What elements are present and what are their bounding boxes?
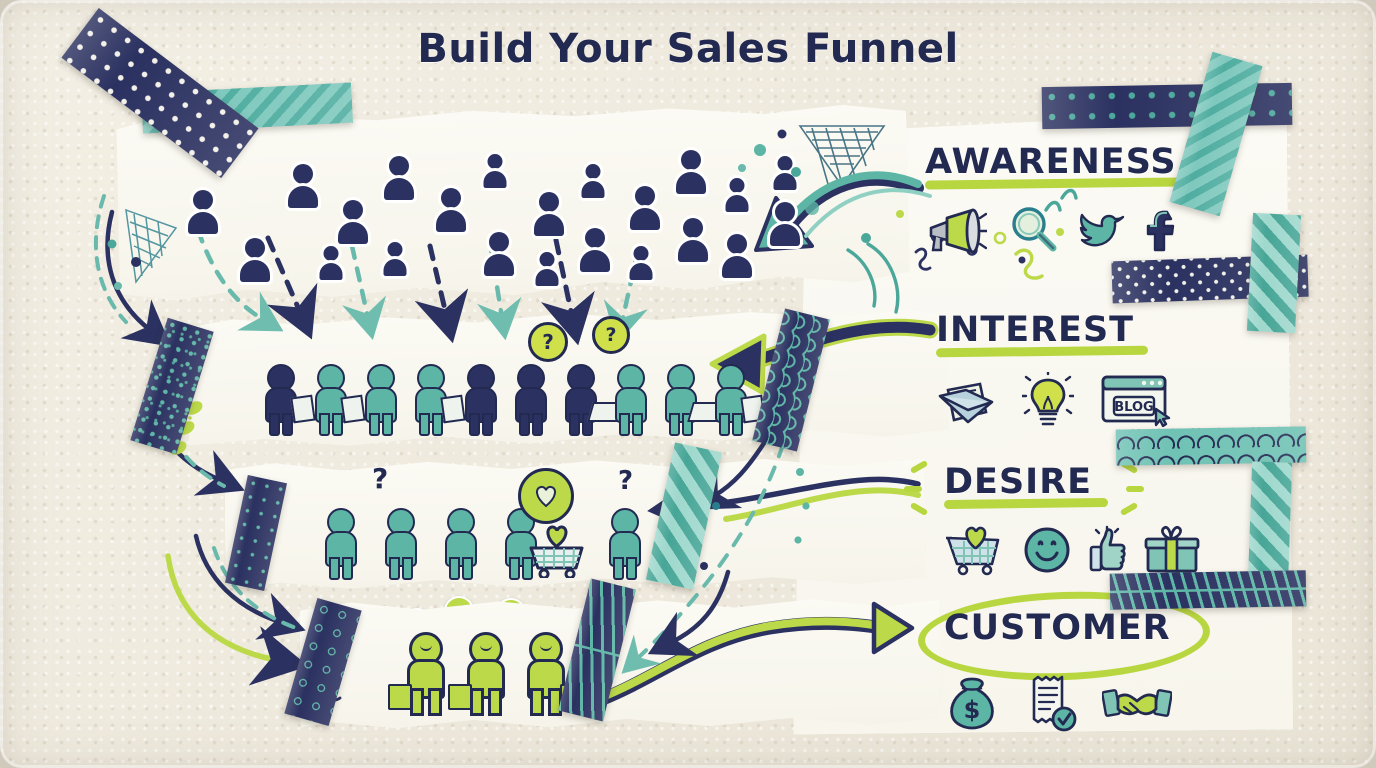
person-avatar — [532, 192, 566, 236]
email-envelope-icon — [936, 376, 996, 428]
question-mark: ? — [372, 462, 388, 495]
stage-underline — [936, 346, 1148, 358]
happy-customer — [398, 630, 454, 716]
audience-desire — [318, 476, 648, 580]
lightbulb-icon — [1022, 372, 1074, 432]
spark-mark — [1126, 486, 1144, 492]
person-thinking — [318, 506, 364, 580]
spark-mark — [1120, 502, 1139, 516]
person-avatar — [482, 154, 508, 188]
money-bag-icon: $ — [944, 675, 1000, 735]
person-avatar — [674, 150, 708, 194]
person-pointing — [602, 506, 648, 580]
person-avatar — [628, 246, 654, 280]
magnifier-icon — [1007, 204, 1059, 260]
gift-box-icon — [1144, 525, 1200, 579]
person-avatar — [772, 156, 798, 190]
person-avatar — [580, 164, 606, 198]
person-avatar — [578, 228, 612, 272]
person-with-laptop — [658, 362, 704, 436]
twitter-bird-icon — [1079, 210, 1125, 254]
stage-label-desire: DESIRE — [944, 462, 1200, 502]
smiley-icon — [1022, 525, 1072, 579]
stage-desire[interactable]: DESIRE — [944, 462, 1200, 580]
person-avatar — [382, 156, 416, 200]
person-avatar — [186, 190, 220, 234]
stage-label-interest: INTEREST — [936, 310, 1172, 350]
money-bag-icon-text: $ — [964, 696, 981, 724]
spark-mark — [904, 486, 922, 492]
facebook-f-icon — [1145, 208, 1177, 256]
person-with-laptop — [558, 362, 604, 436]
handshake-icon — [1102, 679, 1172, 731]
person-avatar — [238, 238, 272, 282]
person-avatar — [628, 186, 662, 230]
stage-label-customer: CUSTOMER — [944, 608, 1172, 648]
question-bubble: ? — [592, 316, 630, 354]
person-thinking — [378, 506, 424, 580]
person-avatar — [482, 232, 516, 276]
tape-navy-leaf — [1110, 570, 1307, 609]
stage-icons-desire — [944, 524, 1200, 580]
person-avatar — [382, 242, 408, 276]
cart-heart-icon — [944, 524, 1006, 580]
tape-teal-stripe-right-2 — [1248, 461, 1292, 588]
person-avatar — [286, 164, 320, 208]
stage-icons-awareness — [925, 204, 1187, 260]
person-reading — [308, 362, 354, 436]
thumbs-up-icon — [1088, 525, 1128, 579]
person-thinking — [508, 362, 554, 436]
person-reading — [408, 362, 454, 436]
tape-teal-stripe-right — [1247, 213, 1301, 333]
question-mark: ? — [618, 466, 633, 496]
person-avatar — [336, 200, 370, 244]
cart-with-heart-graphic — [520, 520, 594, 582]
tape-teal-wave — [1116, 426, 1307, 465]
receipt-check-icon — [1024, 674, 1078, 736]
stage-interest[interactable]: INTEREST — [936, 310, 1172, 432]
stage-icons-customer: $ — [944, 674, 1172, 736]
stage-customer[interactable]: CUSTOMER $ — [944, 608, 1172, 736]
page-title: Build Your Sales Funnel — [0, 26, 1376, 72]
stage-awareness[interactable]: AWARENESS — [925, 142, 1187, 260]
blog-icon-text: BLOG — [1114, 400, 1153, 415]
person-thinking — [438, 506, 484, 580]
person-thinking — [608, 362, 654, 436]
person-reading — [258, 362, 304, 436]
blog-window-icon: BLOG — [1100, 373, 1172, 431]
stage-underline — [944, 498, 1108, 509]
poster-canvas: Build Your Sales Funnel — [0, 0, 1376, 768]
person-avatar — [724, 178, 750, 212]
person-reading — [708, 362, 754, 436]
person-avatar — [676, 218, 710, 262]
person-standing — [358, 362, 404, 436]
audience-interest — [258, 336, 728, 436]
stage-icons-interest: BLOG — [936, 372, 1172, 432]
stage-label-awareness: AWARENESS — [925, 142, 1187, 182]
stage-underline — [925, 177, 1187, 189]
audience-awareness — [176, 142, 816, 282]
person-avatar — [434, 188, 468, 232]
happy-customer — [458, 630, 514, 716]
person-avatar — [534, 252, 560, 286]
person-avatar — [720, 234, 754, 278]
megaphone-icon — [925, 206, 987, 258]
person-avatar — [768, 202, 802, 246]
person-avatar — [318, 246, 344, 280]
person-with-tablet — [458, 362, 504, 436]
question-bubble: ? — [528, 322, 568, 362]
heart-bubble — [518, 468, 574, 524]
